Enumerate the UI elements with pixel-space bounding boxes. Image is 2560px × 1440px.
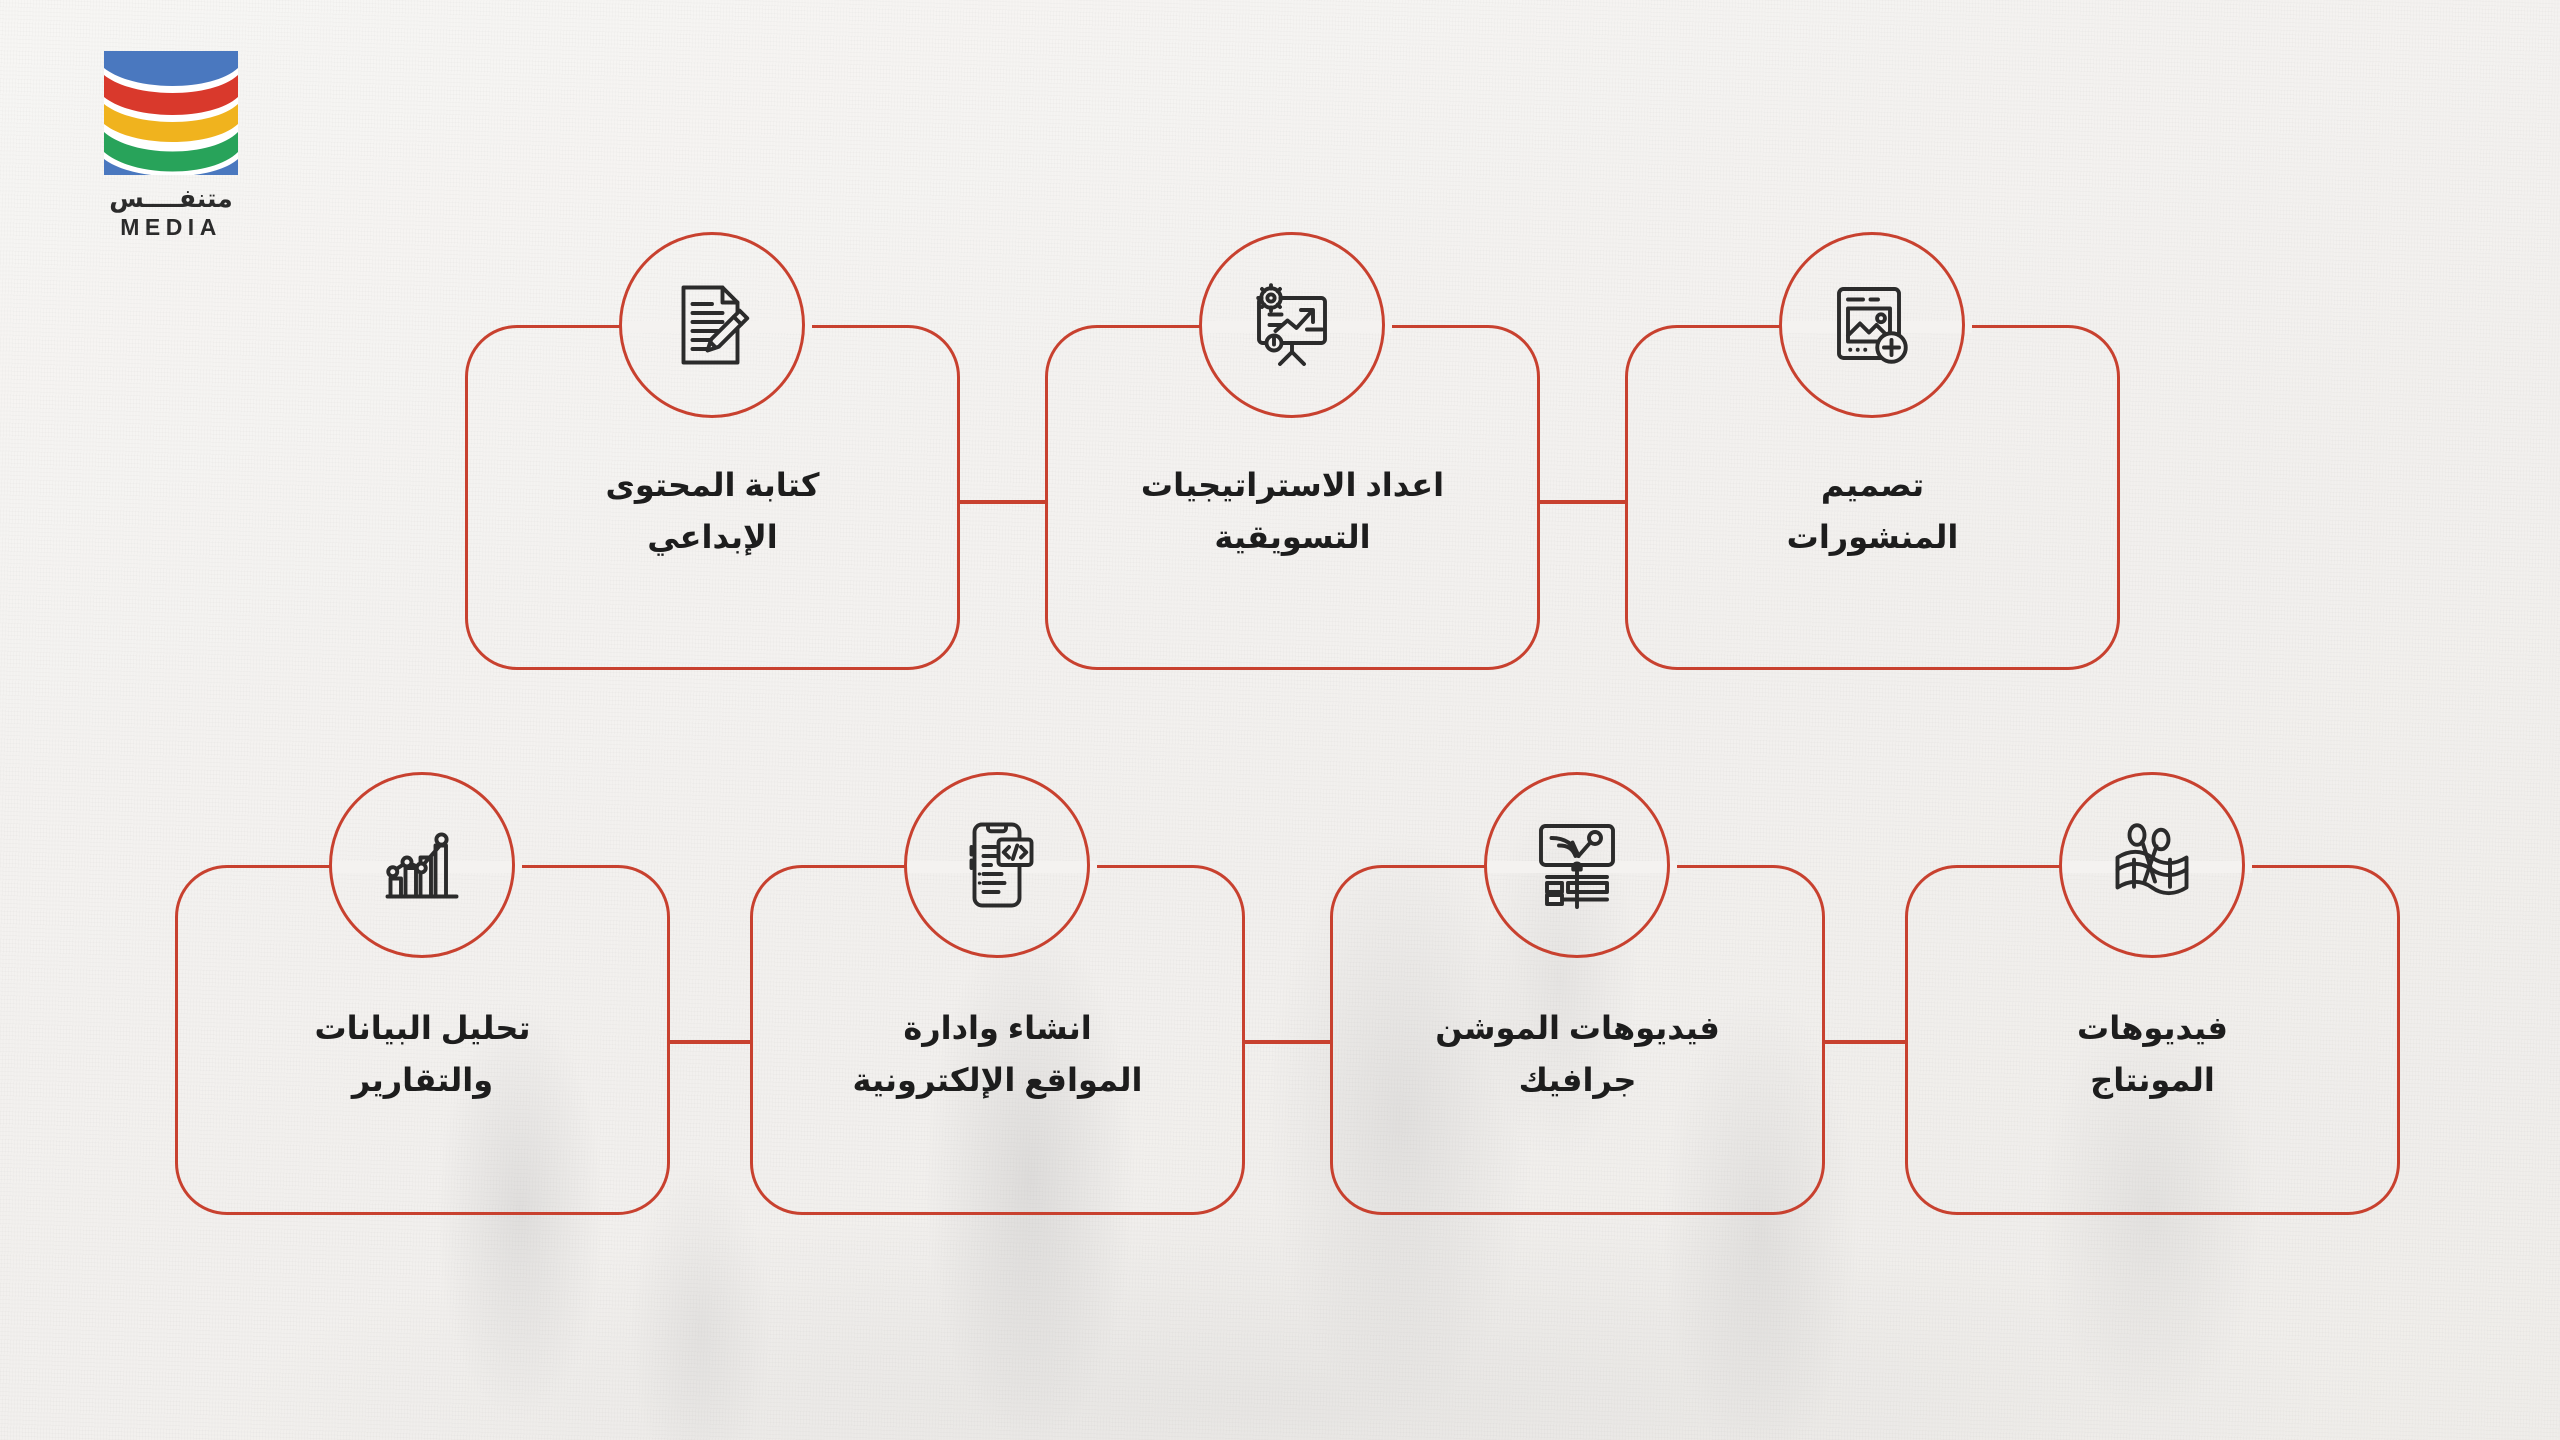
connector-6-7 (1825, 1040, 1907, 1044)
service-card-label: انشاء وادارة المواقع الإلكترونية (753, 1003, 1242, 1107)
icon-circle-video-editing (2059, 772, 2245, 958)
image-add-icon (1824, 277, 1920, 373)
motion-timeline-icon (1529, 817, 1625, 913)
strategy-board-icon (1244, 277, 1340, 373)
icon-circle-data-analysis (329, 772, 515, 958)
film-scissors-icon (2104, 817, 2200, 913)
document-pencil-icon (664, 277, 760, 373)
service-card-label: فيديوهات الموشن جرافيك (1333, 1003, 1822, 1107)
connector-4-5 (670, 1040, 752, 1044)
icon-circle-marketing-strategy (1199, 232, 1385, 418)
connector-2-3 (1540, 500, 1626, 504)
brand-name-latin: MEDIA (100, 216, 242, 239)
service-card-label: تصميم المنشورات (1628, 460, 2117, 564)
service-card-label: كتابة المحتوى الإبداعي (468, 460, 957, 564)
icon-circle-post-design (1779, 232, 1965, 418)
icon-circle-motion-graphics (1484, 772, 1670, 958)
brand-logo: متنفــــس MEDIA (62, 48, 242, 239)
service-card-label: تحليل البيانات والتقارير (178, 1003, 667, 1107)
bar-chart-line-icon (374, 817, 470, 913)
logo-wave-mark (100, 48, 242, 178)
icon-circle-content-writing (619, 232, 805, 418)
service-card-label: فيديوهات المونتاج (1908, 1003, 2397, 1107)
mobile-code-icon (949, 817, 1045, 913)
service-card-label: اعداد الاستراتيجيات التسويقية (1048, 460, 1537, 564)
icon-circle-website-management (904, 772, 1090, 958)
connector-5-6 (1245, 1040, 1331, 1044)
connector-1-2 (960, 500, 1046, 504)
brand-name-arabic: متنفــــس (100, 187, 242, 212)
